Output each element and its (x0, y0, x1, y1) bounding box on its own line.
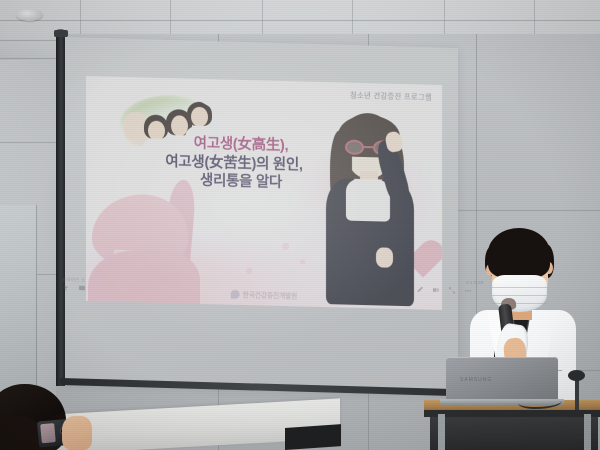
audience-hand (62, 416, 92, 450)
gooseneck-mic-stand (562, 370, 592, 410)
lecture-room-scene: 청소년 건강증진 프로그램 여고생(女高生), 여고생(女苦生)의 원인, 생리… (0, 0, 600, 450)
screen-roller (56, 34, 65, 386)
laptop-brand-label: SAMSUNG (460, 377, 492, 383)
slide-canvas: 청소년 건강증진 프로그램 여고생(女高生), 여고생(女苦生)의 원인, 생리… (86, 76, 442, 310)
slideshow-mode-label: 슬라이드 쇼 (62, 277, 86, 284)
screen-roller-cap (54, 30, 68, 37)
slide-header-label: 청소년 건강증진 프로그램 (350, 91, 432, 103)
slides-grid-icon[interactable] (432, 286, 440, 293)
zoom-icon[interactable] (448, 287, 456, 294)
pen-icon[interactable] (416, 286, 424, 293)
slide-footer-logo: 한국건강증진개발원 (231, 289, 298, 301)
slides-icon[interactable] (78, 284, 86, 291)
presenter-toolbar-left[interactable] (62, 284, 86, 292)
smoke-detector-icon (16, 9, 43, 21)
slide-logo-text: 한국건강증진개발원 (243, 289, 298, 300)
pointer-icon[interactable] (62, 284, 70, 291)
presenter-toolbar-right[interactable] (416, 286, 472, 294)
phone-screen (40, 423, 56, 443)
audience-hair (0, 416, 40, 450)
logo-mark-icon (231, 289, 240, 298)
slide-title: 여고생(女高生), 여고생(女苦生)의 원인, 생리통을 알다 (130, 133, 352, 194)
projected-slide: 청소년 건강증진 프로그램 여고생(女高生), 여고생(女苦生)의 원인, 생리… (86, 76, 442, 310)
woman-photo (320, 108, 424, 307)
pink-silhouette-graphic (88, 179, 220, 308)
foreground-table-edge (285, 424, 341, 450)
